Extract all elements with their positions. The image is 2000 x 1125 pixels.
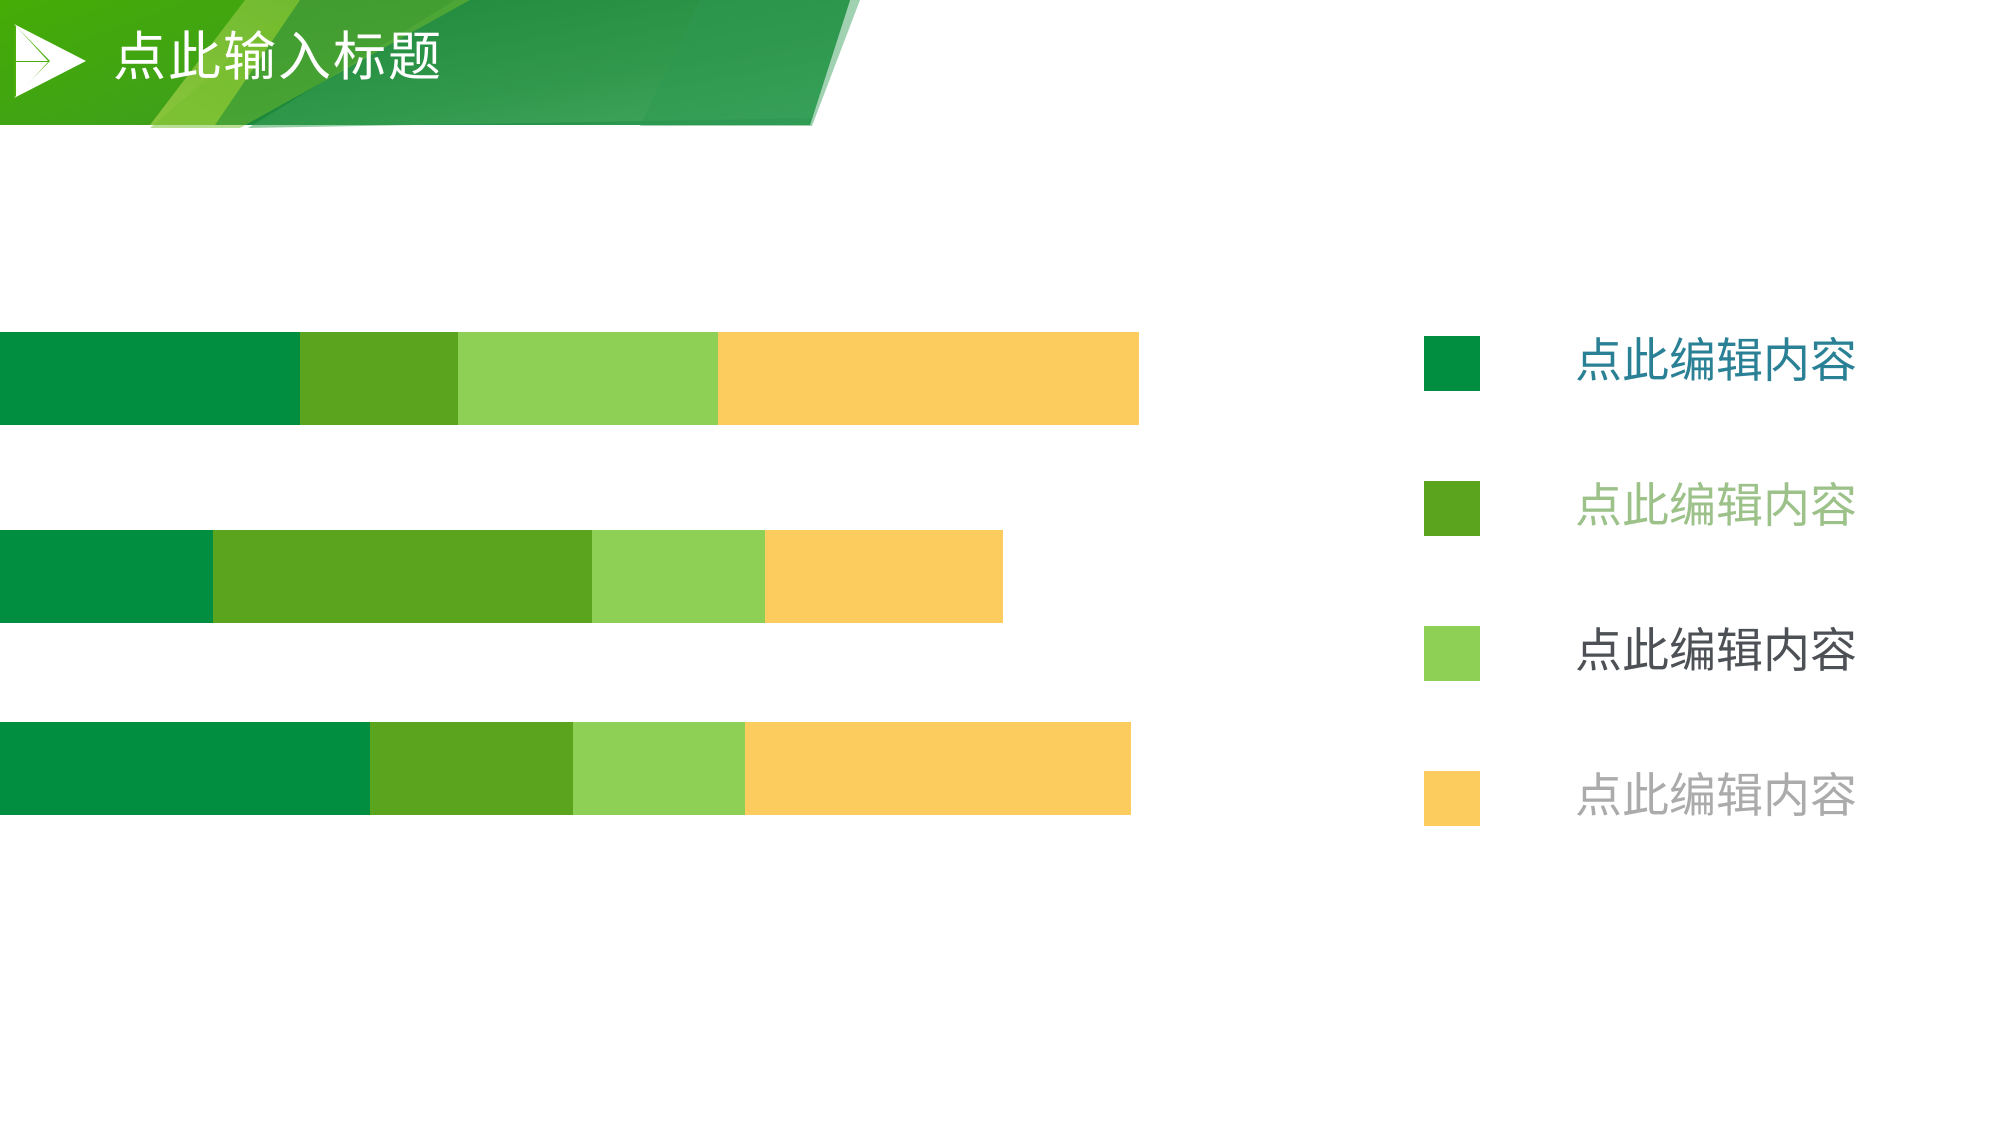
bar-segment-series-1[interactable] <box>0 530 213 623</box>
table-row <box>0 530 1003 623</box>
stacked-bar-chart <box>0 0 1300 1125</box>
legend-item-3[interactable]: 点此编辑内容 <box>1424 615 1944 760</box>
bar-segment-series-3[interactable] <box>592 530 765 623</box>
bar-segment-series-3[interactable] <box>458 332 718 425</box>
bar-segment-series-4[interactable] <box>718 332 1139 425</box>
legend-item-label: 点此编辑内容 <box>1575 325 1857 397</box>
legend-item-4[interactable]: 点此编辑内容 <box>1424 760 1944 905</box>
bar-segment-series-4[interactable] <box>765 530 1003 623</box>
bar-segment-series-3[interactable] <box>573 722 745 815</box>
legend-item-label: 点此编辑内容 <box>1575 615 1857 687</box>
legend-swatch-icon <box>1424 481 1480 536</box>
legend-swatch-icon <box>1424 771 1480 826</box>
legend-item-1[interactable]: 点此编辑内容 <box>1424 325 1944 470</box>
legend-item-label: 点此编辑内容 <box>1575 470 1857 542</box>
bar-segment-series-4[interactable] <box>745 722 1131 815</box>
bar-segment-series-2[interactable] <box>370 722 573 815</box>
bar-segment-series-2[interactable] <box>300 332 458 425</box>
bar-segment-series-1[interactable] <box>0 722 370 815</box>
bar-segment-series-2[interactable] <box>213 530 592 623</box>
chart-legend: 点此编辑内容 点此编辑内容 点此编辑内容 点此编辑内容 <box>1424 325 1944 905</box>
legend-swatch-icon <box>1424 626 1480 681</box>
table-row <box>0 722 1131 815</box>
legend-item-label: 点此编辑内容 <box>1575 760 1857 832</box>
legend-item-2[interactable]: 点此编辑内容 <box>1424 470 1944 615</box>
table-row <box>0 332 1139 425</box>
slide-canvas: 点此输入标题 点此编辑内容 点此编辑内 <box>0 0 2000 1125</box>
bar-segment-series-1[interactable] <box>0 332 300 425</box>
legend-swatch-icon <box>1424 336 1480 391</box>
